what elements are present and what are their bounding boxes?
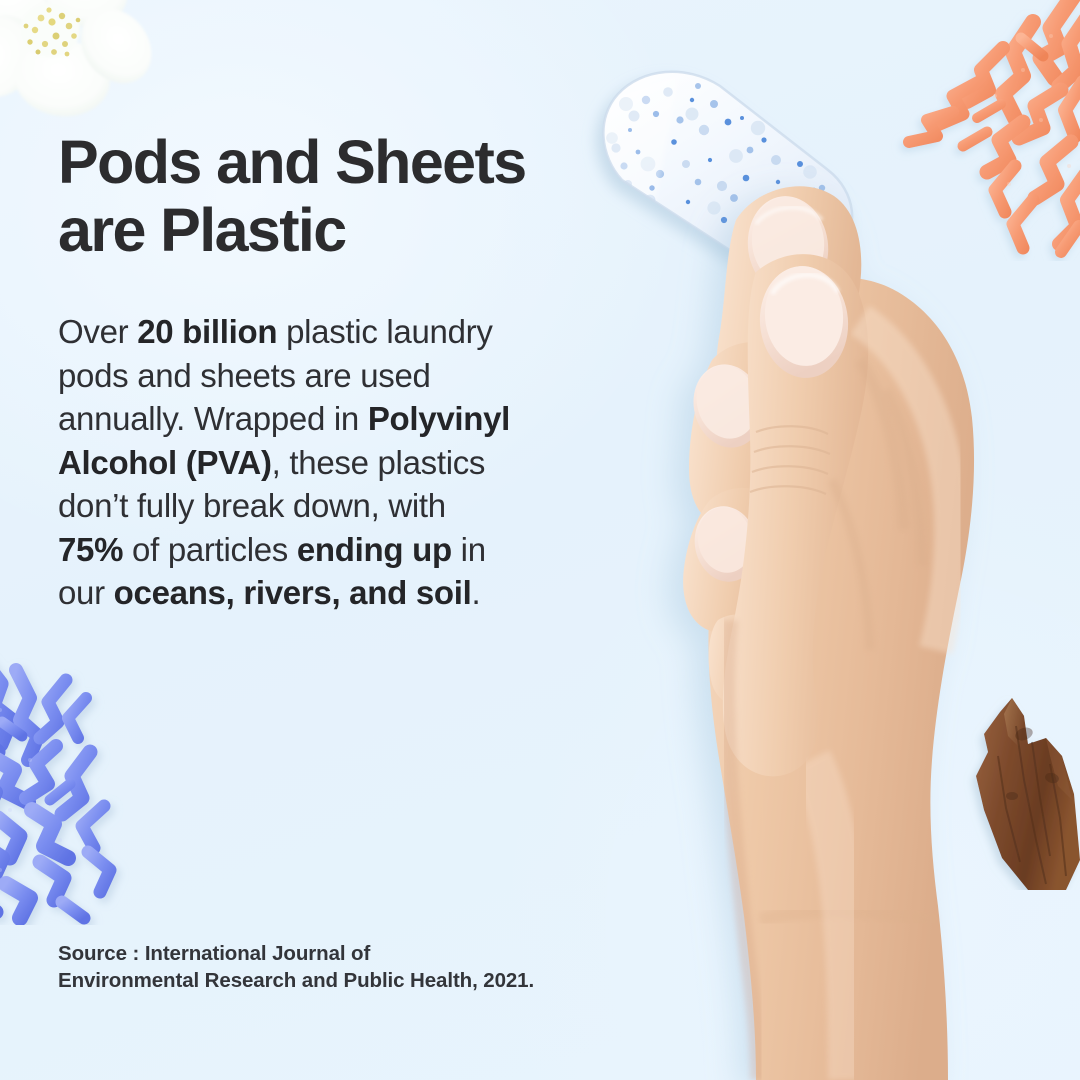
- text-column: Pods and Sheets are Plastic Over 20 bill…: [58, 128, 578, 264]
- body-copy: Over 20 billion plastic laundry pods and…: [58, 310, 518, 615]
- body-emphasis: 20 billion: [137, 313, 277, 350]
- body-emphasis: oceans, rivers, and soil: [114, 574, 472, 611]
- poster-canvas: Pods and Sheets are Plastic Over 20 bill…: [0, 0, 1080, 1080]
- blue-coral-decoration: [0, 640, 170, 925]
- source-citation: Source : International Journal of Enviro…: [58, 940, 618, 994]
- hand-holding-pod-photo: [560, 60, 1080, 1080]
- body-emphasis: Polyvinyl Alcohol (PVA): [58, 400, 510, 481]
- body-emphasis: 75%: [58, 531, 123, 568]
- page-title: Pods and Sheets are Plastic: [58, 128, 578, 264]
- hand: [683, 186, 974, 1080]
- body-emphasis: ending up: [297, 531, 452, 568]
